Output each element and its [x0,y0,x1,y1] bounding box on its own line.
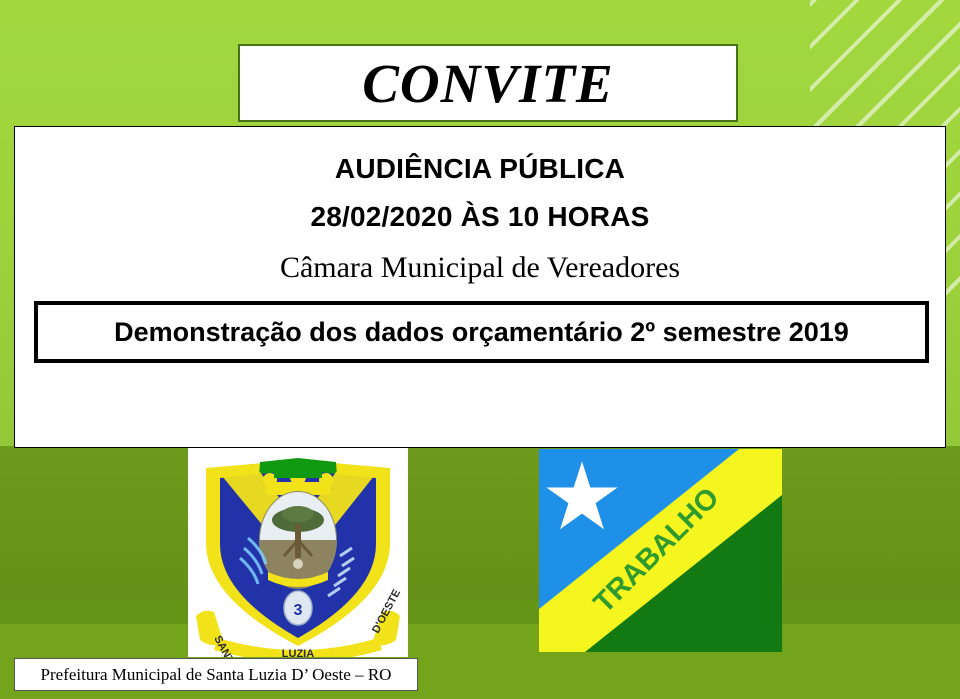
coat-of-arms-icon: 3 SANTA LUZIA D'OESTE [188,448,408,657]
main-content-panel: AUDIÊNCIA PÚBLICA 28/02/2020 ÀS 10 HORAS… [14,126,946,448]
subject-text: Demonstração dos dados orçamentário 2º s… [114,317,849,348]
municipal-flag-image: TRABALHO [539,449,782,652]
footer-text: Prefeitura Municipal de Santa Luzia D’ O… [41,665,392,685]
title-box: CONVITE [238,44,738,122]
event-datetime-line: 28/02/2020 ÀS 10 HORAS [15,201,945,233]
footer-box: Prefeitura Municipal de Santa Luzia D’ O… [14,658,418,691]
svg-text:3: 3 [294,602,303,619]
presentation-slide: CONVITE AUDIÊNCIA PÚBLICA 28/02/2020 ÀS … [0,0,960,699]
emblem-banner-center: LUZIA [282,648,314,657]
coat-of-arms-image: 3 SANTA LUZIA D'OESTE [188,448,408,657]
municipal-flag-icon: TRABALHO [539,449,782,652]
event-venue-line: Câmara Municipal de Vereadores [15,251,945,285]
page-title: CONVITE [362,56,614,111]
background-bottom-shade [0,600,960,624]
subject-box: Demonstração dos dados orçamentário 2º s… [34,301,929,363]
event-type-line: AUDIÊNCIA PÚBLICA [15,153,945,185]
background-middle [0,446,960,624]
